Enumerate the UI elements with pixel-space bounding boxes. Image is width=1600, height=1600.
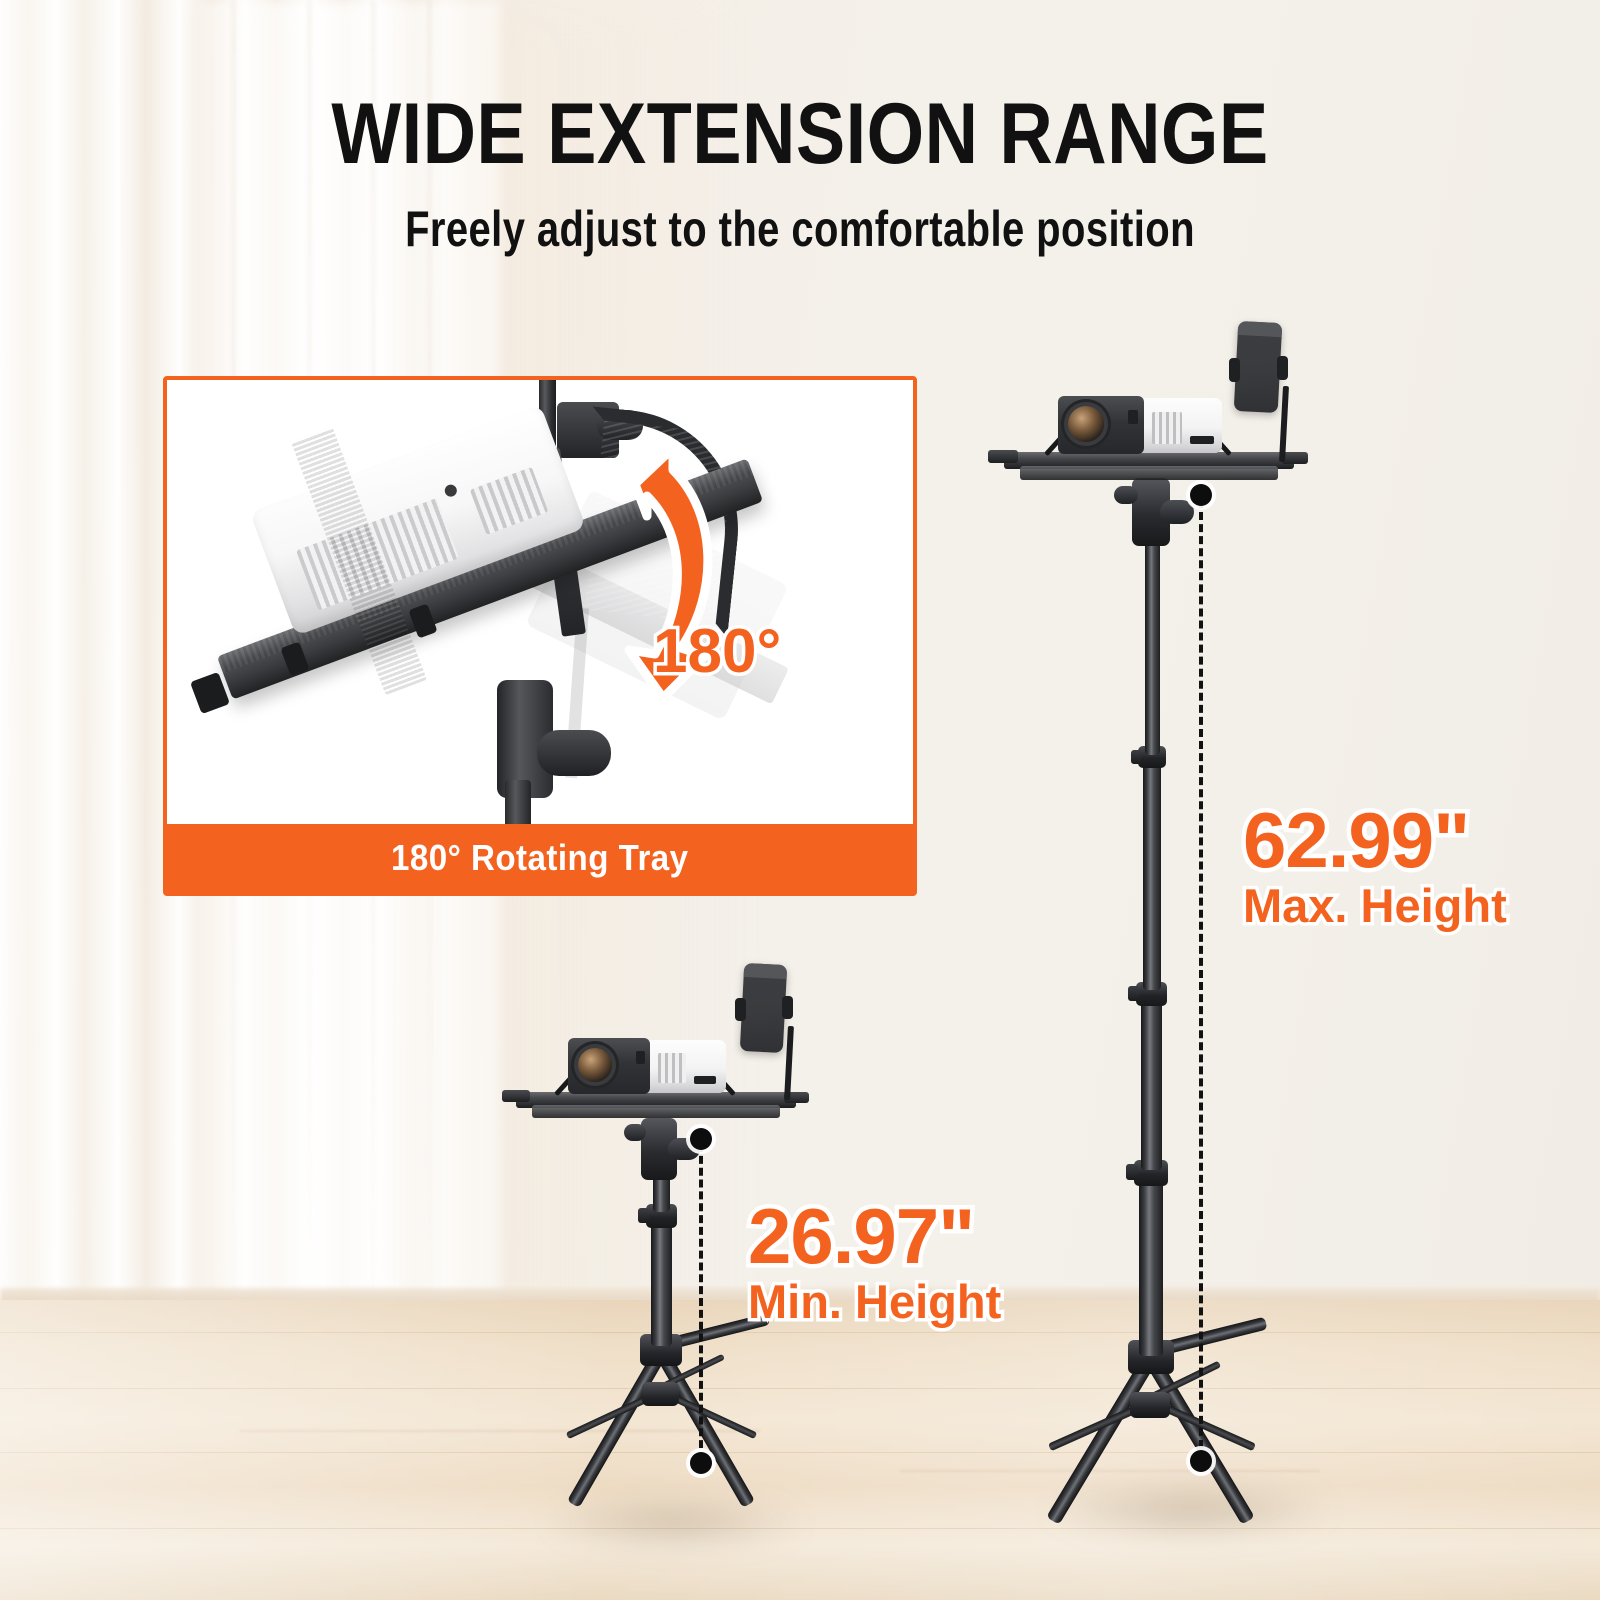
projector-port <box>694 1076 716 1084</box>
product-feature-image: WIDE EXTENSION RANGE Freely adjust to th… <box>0 0 1600 1600</box>
inset-caption-bar: 180° Rotating Tray <box>167 824 913 892</box>
max-height-value: 62.99" <box>1243 800 1507 880</box>
page-title: WIDE EXTENSION RANGE <box>112 88 1488 180</box>
rotation-arrow-icon <box>577 442 757 732</box>
smartphone <box>740 963 788 1053</box>
phone-screen-top <box>1238 321 1283 337</box>
projector-indicator <box>636 1051 645 1064</box>
measure-dot-top-max <box>1190 484 1212 506</box>
floor-sheen <box>0 1300 1600 1600</box>
stand-column-lower <box>651 1218 672 1346</box>
stand-column-lower <box>1139 1176 1163 1356</box>
smartphone <box>1234 321 1283 413</box>
inset-lower-pole <box>505 780 531 824</box>
stand-collar-tab <box>1128 986 1139 1001</box>
min-height-value: 26.97" <box>748 1196 1001 1276</box>
tilt-lock-knob <box>537 730 611 776</box>
projector-lens <box>578 1048 612 1082</box>
projector-vent <box>658 1053 686 1083</box>
callout-max-height: 62.99" Max. Height <box>1243 800 1507 932</box>
page-subtitle: Freely adjust to the comfortable positio… <box>160 200 1440 258</box>
projector-vent <box>1152 412 1182 444</box>
tripod-lower-hub <box>1130 1392 1170 1418</box>
phone-clamp-grip <box>782 996 793 1019</box>
stand-shadow <box>1040 1482 1340 1538</box>
phone-clamp-grip <box>1277 356 1288 380</box>
tripod-lower-hub <box>642 1382 679 1406</box>
min-height-label: Min. Height <box>748 1276 1001 1328</box>
stand-collar-tab <box>1126 1164 1138 1180</box>
tray-extension-right <box>1282 452 1308 464</box>
projector-lens <box>1068 406 1104 442</box>
measure-dot-bottom-max <box>1190 1450 1212 1472</box>
inset-photo: 180° <box>167 380 913 824</box>
tray-extension-left <box>502 1090 530 1102</box>
projector-port <box>1190 436 1214 444</box>
stand-collar-tab <box>1131 750 1141 764</box>
equipment-tray-under <box>532 1105 780 1118</box>
measure-line-min <box>699 1144 703 1460</box>
measure-dot-top-min <box>690 1128 712 1150</box>
callout-min-height: 26.97" Min. Height <box>748 1196 1001 1328</box>
phone-clamp-grip <box>735 998 746 1021</box>
projector-indicator <box>1128 410 1138 424</box>
tilt-knob <box>624 1124 646 1141</box>
phone-screen-top <box>744 963 788 979</box>
max-height-label: Max. Height <box>1243 880 1507 932</box>
rotating-tray-inset-panel: 180° 180° Rotating Tray <box>163 376 917 896</box>
angle-label: 180° <box>653 616 781 687</box>
measure-line-max <box>1199 500 1203 1460</box>
phone-clamp-grip <box>1229 358 1240 382</box>
inset-caption-text: 180° Rotating Tray <box>391 837 689 879</box>
stand-column-mid <box>1141 1000 1162 1170</box>
tilt-knob <box>1114 486 1138 504</box>
tray-extension-left <box>988 450 1018 463</box>
tilt-knob <box>1160 500 1194 524</box>
stand-collar-tab <box>638 1208 649 1223</box>
stand-shadow <box>540 1498 810 1548</box>
equipment-tray-under <box>1020 466 1278 480</box>
stand-column-top <box>1145 540 1160 755</box>
stand-column-upper <box>1143 760 1161 990</box>
measure-dot-bottom-min <box>690 1452 712 1474</box>
